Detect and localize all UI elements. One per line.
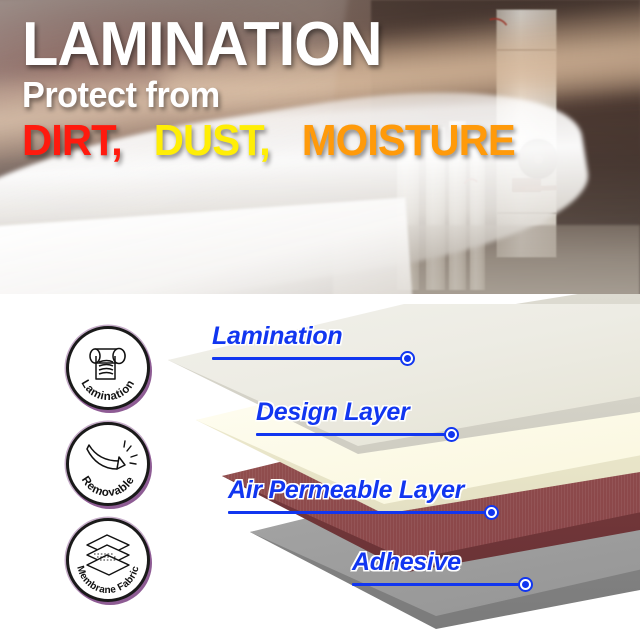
diagram-panel: Lamination [0,294,640,640]
badge-lamination[interactable]: Lamination [66,326,150,410]
leader-line [212,357,408,360]
callout-label-design-layer: Design Layer [256,398,409,427]
callout-label-lamination: Lamination [212,322,342,351]
layer-slab-lamination [168,294,640,454]
callout-lamination[interactable]: Lamination [212,322,342,351]
peeling-corner-icon: Removable [69,425,147,503]
leader-dot [484,505,499,520]
leader-line [228,511,492,514]
leader-dot [444,427,459,442]
hero-accent-moisture: MOISTURE [302,116,515,165]
leader-dot [400,351,415,366]
hero-accent-space-1 [132,116,143,165]
callout-design-layer[interactable]: Design Layer [256,398,409,427]
badge-removable[interactable]: Removable [66,422,150,506]
callout-label-adhesive: Adhesive [352,548,461,577]
hero-title: LAMINATION [22,16,615,73]
layer-slab-adhesive [250,444,640,629]
panel-corner-notch [520,294,640,302]
infographic-root: LAMINATION Protect from DIRT, DUST, MOIS… [0,0,640,640]
hero-headline-block: LAMINATION Protect from DIRT, DUST, MOIS… [0,0,640,296]
stacked-sheets-icon: Membrane Fabric [69,521,147,599]
callout-label-air-permeable-layer: Air Permeable Layer [228,476,464,505]
film-roll-icon: Lamination [69,329,147,407]
hero-accent-line: DIRT, DUST, MOISTURE [22,119,609,163]
badge-label-lamination: Lamination [79,378,138,403]
leader-line [352,583,526,586]
feature-badge-list: Lamination [66,326,150,602]
svg-text:Lamination: Lamination [79,378,138,403]
leader-dot [518,577,533,592]
hero-accent-dirt: DIRT, [22,116,122,165]
hero-accent-space-2 [280,116,291,165]
badge-label-removable: Removable [79,474,137,499]
callout-air-permeable-layer[interactable]: Air Permeable Layer [228,476,464,505]
hero-subtitle: Protect from [22,77,609,113]
leader-line [256,433,452,436]
callout-adhesive[interactable]: Adhesive [352,548,461,577]
badge-membrane-fabric[interactable]: Membrane Fabric [66,518,150,602]
hero-banner: LAMINATION Protect from DIRT, DUST, MOIS… [0,0,640,296]
hero-accent-dust: DUST, [154,116,270,165]
svg-text:Removable: Removable [79,474,137,499]
